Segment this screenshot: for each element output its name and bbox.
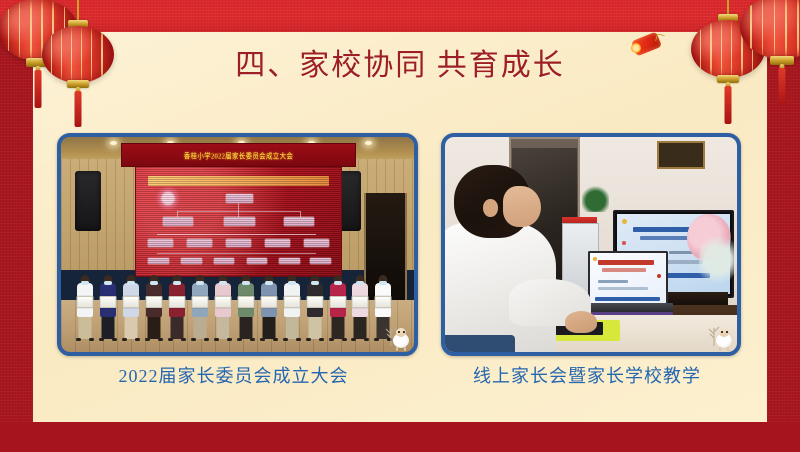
top-band-texture — [0, 0, 800, 32]
caption-parent-committee-ceremony: 2022届家长委员会成立大会 — [57, 360, 410, 390]
photo-left-content: 香桂小学2022届家长委员会成立大会 — [61, 137, 414, 352]
stage-banner: 香桂小学2022届家长委员会成立大会 — [121, 143, 356, 167]
led-screen-heading — [148, 176, 328, 186]
lantern-top-right-2-icon — [737, 0, 800, 106]
led-screen — [135, 163, 342, 277]
slide-canvas: 四、家校协同 共育成长 — [0, 0, 800, 452]
person-face — [503, 186, 541, 227]
laptop-screen — [588, 251, 668, 305]
top-red-band — [0, 0, 800, 32]
speaker-left — [75, 171, 101, 231]
bottom-red-band — [0, 422, 800, 452]
person-hand — [565, 311, 597, 333]
led-emblem — [155, 186, 182, 211]
sheep-decoration-icon — [713, 326, 735, 352]
stage-banner-text: 香桂小学2022届家长委员会成立大会 — [184, 149, 293, 161]
lantern-top-left-2-icon — [37, 0, 119, 145]
photo-right-content — [445, 137, 737, 352]
person-ear — [483, 199, 498, 216]
photo-online-parent-meeting — [441, 133, 741, 356]
person-jeans — [445, 335, 515, 352]
caption-online-parent-meeting: 线上家长会暨家长学校教学 — [441, 360, 733, 390]
firecracker-icon — [630, 33, 664, 57]
potted-plant — [582, 184, 608, 212]
photo-parent-committee-ceremony: 香桂小学2022届家长委员会成立大会 — [57, 133, 418, 356]
sheep-decoration-icon — [390, 326, 412, 352]
